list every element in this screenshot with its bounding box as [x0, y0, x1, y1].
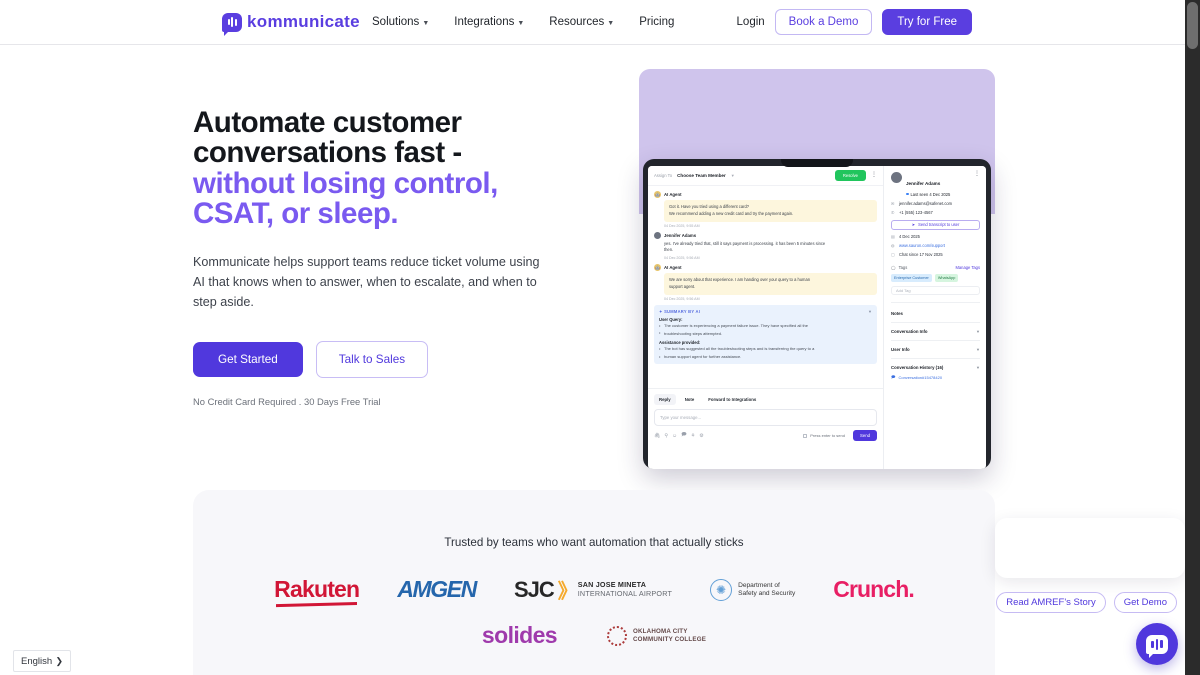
summary-assistance-line1: The bot has suggested all the troublesho… — [659, 346, 872, 352]
client-logo-row-1: Rakuten AMGEN SJC 》 SAN JOSE MINETA INTE… — [193, 575, 995, 604]
nav-label-pricing: Pricing — [639, 16, 674, 28]
conversation-history-section[interactable]: Conversation History (16) ▼ — [891, 358, 980, 372]
location-icon[interactable]: ⚲ — [664, 433, 668, 439]
nav-label-integrations: Integrations — [454, 16, 514, 28]
press-enter-label: Press enter to send — [810, 433, 845, 438]
message-timestamp: 04 Dec 2025, 9:55 AM — [664, 224, 877, 228]
nav-item-integrations[interactable]: Integrations ▼ — [454, 16, 524, 28]
page-scrollbar[interactable] — [1185, 0, 1200, 675]
message-line-2: We recommend adding a new credit card an… — [669, 211, 872, 218]
chevron-down-icon[interactable]: ▼ — [976, 329, 980, 334]
contact-phone-row: ✆ +1 (555) 123-4567 — [891, 210, 980, 215]
message-input[interactable]: Type your message... — [654, 409, 877, 426]
talk-to-sales-button[interactable]: Talk to Sales — [316, 341, 428, 378]
hero-heading-accent1: without losing control, — [193, 167, 498, 200]
globe-icon: ◍ — [891, 243, 896, 248]
message-sender: Jennifer Adams — [664, 233, 696, 238]
message-header: 🤖 AI Agent — [654, 191, 877, 198]
tag-pill[interactable]: WhatsApp — [935, 274, 959, 282]
un-dss-logo: ✺ Department of Safety and Security — [710, 579, 795, 601]
nav-label-resources: Resources — [549, 16, 604, 28]
chevron-right-icon: ❯ — [55, 656, 63, 667]
okc-community-college-logo: OKLAHOMA CITY COMMUNITY COLLEGE — [607, 626, 706, 646]
send-button[interactable]: Send — [853, 430, 877, 441]
contact-chat-since: Chat since 17 Nov 2025 — [899, 252, 943, 257]
emoji-icon[interactable]: ☺ — [672, 433, 677, 439]
summary-assistance-line2: human support agent for further assistan… — [659, 354, 872, 360]
chevron-down-icon[interactable]: ▼ — [731, 173, 735, 178]
message-line-1: We are sorry about that experience. I am… — [669, 277, 872, 284]
contact-last-seen-text: Last seen 4 Dec 2025 — [911, 192, 951, 197]
message-ai-2: 🤖 AI Agent We are sorry about that exper… — [654, 264, 877, 301]
user-avatar — [654, 232, 661, 239]
composer-tabs: Reply Note Forward to Integrations — [648, 388, 883, 409]
conversation-id: Conversation#15478420 — [898, 375, 942, 380]
chat-launcher-button[interactable] — [1136, 623, 1178, 665]
scrollbar-thumb[interactable] — [1187, 2, 1198, 49]
un-sub-line1: Department of — [738, 582, 795, 590]
message-bubble: yes. I've already tried that, still it s… — [664, 241, 877, 255]
sjc-subtitle: SAN JOSE MINETA INTERNATIONAL AIRPORT — [578, 581, 672, 597]
tag-pill[interactable]: Enterprise Customer — [891, 274, 932, 282]
login-link[interactable]: Login — [737, 16, 765, 28]
solides-logo: solides — [482, 622, 557, 649]
hero-heading-line1: Automate customer — [193, 106, 462, 139]
site-header: kommunicate Solutions ▼ Integrations ▼ R… — [0, 0, 1185, 45]
hero-copy: Automate customer conversations fast - w… — [193, 108, 573, 407]
hero-section: Automate customer conversations fast - w… — [0, 45, 1185, 490]
tags-label-group: ◯ Tags — [891, 265, 907, 270]
avatar — [891, 172, 902, 183]
phone-icon: ✆ — [891, 210, 896, 215]
nav-label-solutions: Solutions — [372, 16, 419, 28]
contact-info-pane: Jennifer Adams Last seen 4 Dec 2025 ⋮ ✉ … — [884, 166, 986, 469]
device-notch — [781, 159, 853, 167]
tag-list: Enterprise Customer WhatsApp — [891, 274, 980, 282]
online-status-dot — [906, 193, 909, 196]
conversation-history-label: Conversation History (16) — [891, 365, 943, 370]
message-line-1: Got it. Have you tried using a different… — [669, 204, 872, 211]
contact-website: www.sauron.com/support — [899, 243, 945, 248]
send-icon: ➤ — [912, 222, 915, 227]
notes-label: Notes — [891, 311, 903, 316]
message-line-2: then. — [664, 247, 877, 254]
chat-widget-quick-replies: Read AMREF's Story Get Demo — [996, 592, 1177, 613]
sjc-abbrev: SJC — [514, 577, 554, 603]
message-ai-1: 🤖 AI Agent Got it. Have you tried using … — [654, 191, 877, 228]
link-icon[interactable]: ⚘ — [691, 433, 695, 439]
calendar-icon: ▤ — [891, 234, 896, 239]
message-bubble: We are sorry about that experience. I am… — [664, 273, 877, 295]
ai-agent-avatar-icon: 🤖 — [654, 264, 661, 271]
message-timestamp: 04 Dec 2025, 9:56 AM — [664, 256, 877, 260]
contact-date-row: ▤ 4 Dec 2025 — [891, 234, 980, 239]
kommunicate-bubble-icon — [222, 13, 242, 32]
message-line-2: support agent. — [669, 284, 872, 291]
try-for-free-button[interactable]: Try for Free — [882, 9, 972, 35]
chevron-down-icon: ▼ — [607, 20, 614, 27]
client-logo-row-2: solides OKLAHOMA CITY COMMUNITY COLLEGE — [193, 622, 995, 649]
contact-email: jennifer.adams@safenet.com — [899, 201, 952, 206]
chevron-down-icon: ▼ — [422, 20, 429, 27]
message-list: 🤖 AI Agent Got it. Have you tried using … — [648, 186, 883, 388]
ai-agent-avatar-icon: 🤖 — [654, 191, 661, 198]
chat-widget-card — [995, 518, 1185, 578]
tags-header: ◯ Tags Manage Tags — [891, 265, 980, 270]
sjc-chevron-icon: 》 — [558, 575, 574, 604]
resolve-button[interactable]: Resolve — [835, 170, 866, 181]
add-tag-placeholder: Add Tag — [896, 288, 911, 293]
chat-icon: 🗩 — [891, 374, 895, 381]
forward-to-integrations-tab[interactable]: Forward to Integrations — [703, 394, 761, 405]
chevron-down-icon[interactable]: ▼ — [976, 365, 980, 370]
summary-user-query-line1: The customer is experiencing a payment f… — [659, 323, 872, 329]
hero-heading: Automate customer conversations fast - w… — [193, 108, 573, 230]
contact-date: 4 Dec 2025 — [899, 234, 920, 239]
clock-icon: ▢ — [891, 252, 896, 257]
message-sender: AI Agent — [664, 192, 682, 197]
note-tab[interactable]: Note — [680, 394, 700, 405]
get-demo-button[interactable]: Get Demo — [1114, 592, 1177, 613]
message-input-placeholder: Type your message... — [660, 415, 701, 420]
contact-header: Jennifer Adams Last seen 4 Dec 2025 ⋮ — [891, 172, 980, 197]
ai-summary-title: ✦ SUMMARY BY AI — [659, 309, 872, 314]
contact-website-row[interactable]: ◍ www.sauron.com/support — [891, 243, 980, 248]
conversation-pane: Assign To Choose Team Member ▼ Resolve ⋮… — [648, 166, 884, 469]
canned-response-icon[interactable]: 🗩 — [681, 432, 687, 440]
send-transcript-label: Send transcript to user — [918, 222, 959, 227]
send-transcript-button[interactable]: ➤ Send transcript to user — [891, 220, 980, 230]
user-info-section[interactable]: User Info ▼ — [891, 340, 980, 358]
sparkle-icon: ✦ — [659, 309, 663, 314]
get-started-button[interactable]: Get Started — [193, 342, 303, 377]
un-sub-line2: Safety and Security — [738, 590, 795, 598]
summary-user-query-heading: User Query: — [659, 317, 872, 322]
logo-wordmark: kommunicate — [247, 12, 360, 32]
manage-tags-link[interactable]: Manage Tags — [955, 265, 980, 270]
okc-sub-line2: COMMUNITY COLLEGE — [633, 636, 706, 644]
amgen-logo: AMGEN — [397, 576, 476, 603]
trusted-by-title: Trusted by teams who want automation tha… — [193, 536, 995, 549]
more-options-icon[interactable]: ⋮ — [974, 172, 980, 177]
okc-seal-icon — [607, 626, 627, 646]
hero-heading-line2: conversations fast - — [193, 136, 462, 169]
language-label: English — [21, 656, 52, 667]
summary-user-query-line2: troubleshooting steps attempted. — [659, 331, 872, 337]
conversation-toolbar: Assign To Choose Team Member ▼ Resolve ⋮ — [648, 166, 883, 186]
book-a-demo-button[interactable]: Book a Demo — [775, 9, 873, 35]
okc-subtitle: OKLAHOMA CITY COMMUNITY COLLEGE — [633, 628, 706, 644]
chat-bubble-icon — [1146, 635, 1168, 654]
message-bubble: Got it. Have you tried using a different… — [664, 200, 877, 222]
contact-phone: +1 (555) 123-4567 — [899, 210, 933, 215]
chevron-down-icon[interactable]: ▼ — [976, 347, 980, 352]
rakuten-logo: Rakuten — [274, 576, 359, 603]
reply-tab[interactable]: Reply — [654, 394, 676, 405]
message-header: 🤖 AI Agent — [654, 264, 877, 271]
ai-summary-card: ✦ SUMMARY BY AI ▼ User Query: The custom… — [654, 305, 877, 365]
chevron-down-icon[interactable]: ▼ — [868, 309, 872, 314]
user-info-label: User Info — [891, 347, 910, 352]
settings-icon[interactable]: ⚙ — [699, 433, 703, 439]
contact-chat-since-row: ▢ Chat since 17 Nov 2025 — [891, 252, 980, 257]
nav-item-resources[interactable]: Resources ▼ — [549, 16, 614, 28]
tags-label: Tags — [899, 265, 908, 270]
nav-item-pricing[interactable]: Pricing — [639, 16, 674, 28]
chevron-down-icon: ▼ — [517, 20, 524, 27]
notes-section[interactable]: Notes — [891, 302, 980, 322]
assign-to-label: Assign To — [654, 173, 672, 178]
contact-name: Jennifer Adams — [906, 181, 940, 186]
message-timestamp: 04 Dec 2025, 9:56 AM — [664, 297, 877, 301]
conversation-info-section[interactable]: Conversation Info ▼ — [891, 322, 980, 340]
sjc-airport-logo: SJC 》 SAN JOSE MINETA INTERNATIONAL AIRP… — [514, 575, 672, 604]
tag-icon: ◯ — [891, 265, 896, 270]
assign-to-value[interactable]: Choose Team Member — [677, 173, 726, 178]
hero-product-visual: Assign To Choose Team Member ▼ Resolve ⋮… — [639, 69, 995, 469]
message-line-1: yes. I've already tried that, still it s… — [664, 241, 877, 248]
press-enter-to-send-toggle[interactable]: Press enter to send — [803, 433, 845, 438]
contact-email-row: ✉ jennifer.adams@safenet.com — [891, 201, 980, 206]
trusted-by-section: Trusted by teams who want automation tha… — [193, 490, 995, 675]
checkbox-icon[interactable] — [803, 434, 807, 438]
device-frame: Assign To Choose Team Member ▼ Resolve ⋮… — [643, 159, 991, 469]
message-sender: AI Agent — [664, 265, 682, 270]
nav-item-solutions[interactable]: Solutions ▼ — [372, 16, 429, 28]
hero-trial-note: No Credit Card Required . 30 Days Free T… — [193, 396, 573, 407]
main-nav: Solutions ▼ Integrations ▼ Resources ▼ P… — [372, 16, 674, 28]
hero-cta-group: Get Started Talk to Sales — [193, 341, 573, 378]
page-root: kommunicate Solutions ▼ Integrations ▼ R… — [0, 0, 1200, 675]
contact-last-seen: Last seen 4 Dec 2025 — [906, 192, 970, 197]
kommunicate-logo[interactable]: kommunicate — [222, 12, 360, 32]
message-user-1: Jennifer Adams yes. I've already tried t… — [654, 232, 877, 261]
ai-summary-title-text: SUMMARY BY AI — [664, 309, 700, 314]
read-amref-story-button[interactable]: Read AMREF's Story — [996, 592, 1105, 613]
header-actions: Login Book a Demo Try for Free — [737, 9, 972, 35]
composer-toolbar: 🖇 ⚲ ☺ 🗩 ⚘ ⚙ Press enter to send Send — [648, 426, 883, 441]
crunch-logo: Crunch. — [833, 576, 914, 603]
mail-icon: ✉ — [891, 201, 896, 206]
more-options-icon[interactable]: ⋮ — [871, 173, 877, 178]
summary-assistance-heading: Assistance provided: — [659, 340, 872, 345]
language-selector[interactable]: English ❯ — [13, 650, 71, 672]
un-subtitle: Department of Safety and Security — [738, 582, 795, 598]
okc-sub-line1: OKLAHOMA CITY — [633, 628, 706, 636]
sjc-sub-line2: INTERNATIONAL AIRPORT — [578, 590, 672, 598]
un-emblem-icon: ✺ — [710, 579, 732, 601]
conversation-history-item[interactable]: 🗩 Conversation#15478420 — [891, 374, 980, 381]
attachment-icon[interactable]: 🖇 — [654, 433, 660, 439]
message-header: Jennifer Adams — [654, 232, 877, 239]
device-screen: Assign To Choose Team Member ▼ Resolve ⋮… — [648, 166, 986, 469]
add-tag-input[interactable]: Add Tag — [891, 286, 980, 295]
hero-heading-accent2: CSAT, or sleep. — [193, 197, 398, 230]
conversation-info-label: Conversation Info — [891, 329, 928, 334]
hero-subtext: Kommunicate helps support teams reduce t… — [193, 252, 549, 313]
